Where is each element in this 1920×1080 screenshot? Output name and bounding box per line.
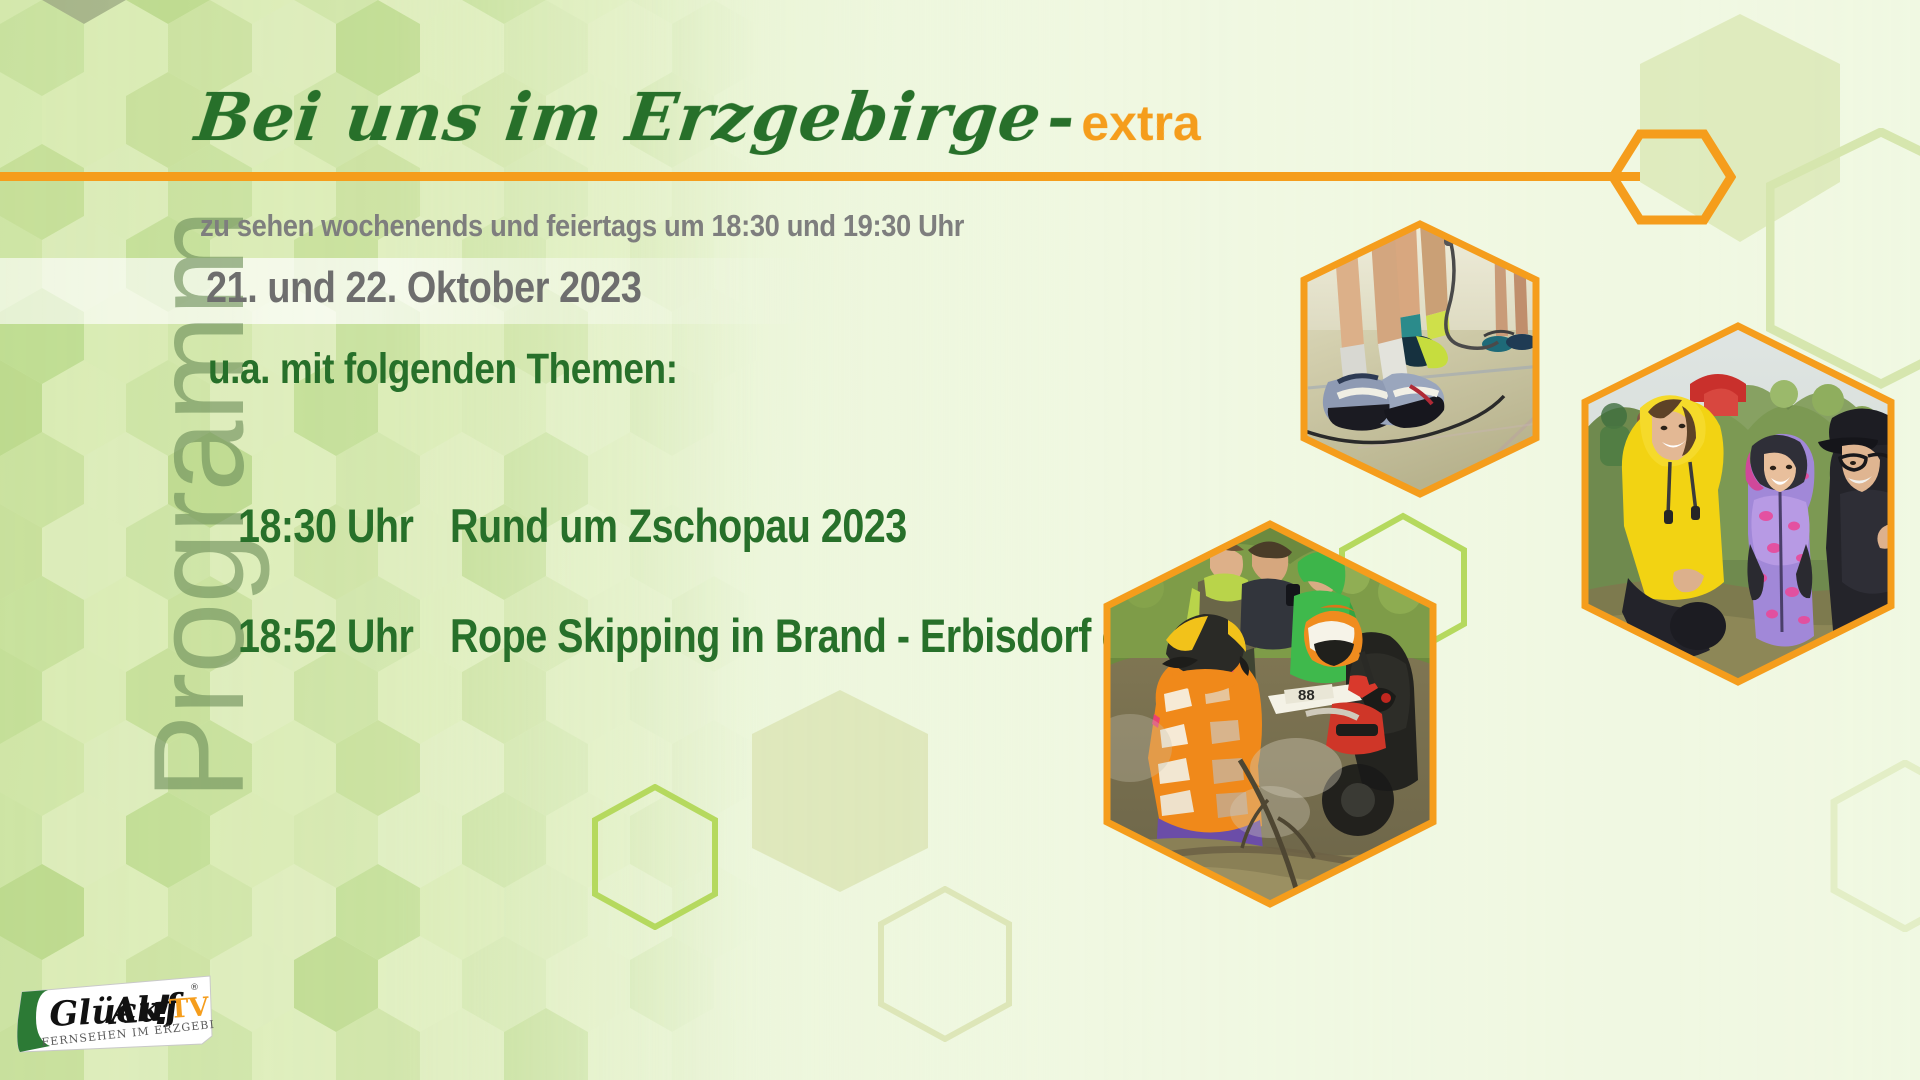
glueckauf-tv-logo: Glück Auf ! TV ® FERNSEHEN IM ERZGEBIRGE [14,972,214,1064]
broadcast-date: 21. und 22. Oktober 2023 [206,263,642,313]
decorative-hexagon-outline-pale-bottom [878,886,1012,1042]
page-title-dash: - [1037,78,1087,156]
rope-skipping-feet-photo [1298,218,1542,500]
page-title-accent: extra [1081,98,1201,148]
enduro-mud-riders-photo: 88 [1100,518,1440,910]
logo-registered-mark: ® [190,983,199,993]
family-rain-jackets-photo [1578,320,1898,688]
svg-text:88: 88 [1298,687,1315,704]
decorative-hexagon-filled-lowermid [752,690,928,892]
decorative-hexagon-outline-lime-lower [592,784,718,930]
page-title-main: Bei uns im Erzgebirge [191,78,1046,156]
page-title: Bei uns im Erzgebirge-extra [192,84,1206,150]
topics-intro-label: u.a. mit folgenden Themen: [208,345,678,394]
orange-divider-rule [0,172,1640,181]
program-time: 18:52 Uhr [238,608,416,663]
program-time: 18:30 Uhr [238,498,416,553]
program-title: Rund um Zschopau 2023 [450,498,907,553]
airtime-subtitle: zu sehen wochenends und feiertags um 18:… [200,208,964,244]
decorative-hexagon-outline-right-edge [1830,760,1920,932]
orange-hexagon-endcap-icon [1608,129,1736,225]
broadcast-slide: Programm Bei uns im Erzgebirge-extra zu … [0,0,1920,1080]
